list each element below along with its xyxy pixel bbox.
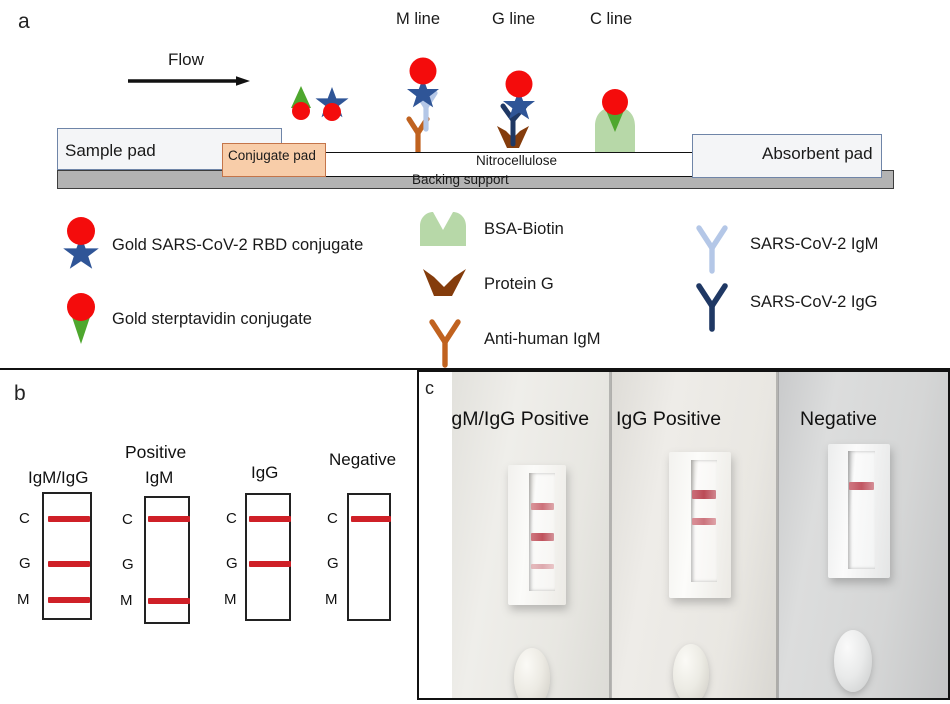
panel-b-letter: b bbox=[14, 382, 26, 406]
flow-arrow-icon bbox=[128, 76, 250, 86]
legend: Gold SARS-CoV-2 RBD conjugate Gold sterp… bbox=[0, 200, 950, 360]
band-m-igm-igg bbox=[48, 597, 90, 603]
band-letter-g-3: G bbox=[226, 555, 238, 572]
conjugate-pad-label: Conjugate pad bbox=[228, 148, 316, 163]
m-line-complex-icon bbox=[398, 53, 454, 153]
strip-igg[interactable] bbox=[245, 493, 291, 621]
strip-igm-igg[interactable] bbox=[42, 492, 92, 620]
panel-c: c IgM/IgG Positive bbox=[417, 370, 950, 700]
dark-blue-y-antibody-icon bbox=[692, 284, 734, 330]
cassette-1-band-m bbox=[531, 564, 554, 569]
panel-a-letter: a bbox=[18, 10, 30, 34]
cassette-1-band-g bbox=[531, 533, 554, 541]
light-green-cup-icon bbox=[418, 212, 468, 246]
legend-label-sars-cov-2-igm: SARS-CoV-2 IgM bbox=[750, 235, 878, 254]
figure-root: a M line G line C line Flow bbox=[0, 0, 950, 704]
c-line-complex-icon bbox=[589, 88, 645, 154]
strip-igm[interactable] bbox=[144, 496, 190, 624]
legend-label-bsa-biotin: BSA-Biotin bbox=[484, 220, 564, 239]
cassette-3-label: Negative bbox=[800, 408, 877, 431]
band-letter-g-2: G bbox=[122, 556, 134, 573]
g-line-label: G line bbox=[492, 10, 535, 29]
band-letter-c-1: C bbox=[19, 510, 30, 527]
legend-label-gold-rbd-conjugate: Gold SARS-CoV-2 RBD conjugate bbox=[112, 236, 363, 255]
cassette-igg-positive[interactable]: IgG Positive bbox=[611, 372, 778, 698]
nitrocellulose-label: Nitrocellulose bbox=[476, 153, 557, 168]
band-letter-m-4: M bbox=[325, 591, 338, 608]
band-letter-m-1: M bbox=[17, 591, 30, 608]
band-letter-m-3: M bbox=[224, 591, 237, 608]
cassette-seam-2 bbox=[776, 372, 779, 698]
cassette-1-band-c bbox=[531, 503, 554, 510]
light-blue-y-antibody-icon bbox=[692, 226, 734, 272]
positive-group-title: Positive bbox=[125, 442, 186, 463]
cassette-2-sample-well bbox=[673, 644, 709, 698]
sample-pad-label: Sample pad bbox=[65, 141, 156, 161]
strip-title-igg: IgG bbox=[251, 463, 278, 483]
band-letter-c-2: C bbox=[122, 511, 133, 528]
red-circle-blue-star-icon bbox=[60, 216, 104, 272]
cassette-1-label: IgM/IgG Positive bbox=[452, 408, 589, 431]
strip-title-igm: IgM bbox=[145, 468, 173, 488]
brown-y-antibody-icon bbox=[424, 320, 468, 366]
panel-a: a M line G line C line Flow bbox=[0, 0, 950, 368]
panel-b: b Positive IgM/IgG C G M IgM C G M IgG C… bbox=[0, 370, 417, 704]
band-letter-g-1: G bbox=[19, 555, 31, 572]
cassette-seam-1 bbox=[609, 372, 612, 698]
cassette-2-band-g bbox=[692, 518, 716, 525]
band-letter-c-3: C bbox=[226, 510, 237, 527]
band-c-igm bbox=[148, 516, 190, 522]
cassette-3-result-window bbox=[848, 451, 875, 569]
cassette-1-result-window bbox=[529, 473, 555, 591]
flow-label: Flow bbox=[168, 50, 204, 70]
absorbent-pad-label: Absorbent pad bbox=[762, 144, 873, 164]
cassette-negative[interactable]: Negative bbox=[778, 372, 950, 698]
strip-title-negative: Negative bbox=[329, 450, 396, 470]
flow-indicator: Flow bbox=[128, 50, 258, 90]
band-letter-g-4: G bbox=[327, 555, 339, 572]
strip-negative[interactable] bbox=[347, 493, 391, 621]
legend-label-gold-streptavidin-conjugate: Gold sterptavidin conjugate bbox=[112, 310, 312, 329]
gold-streptavidin-conjugate-icon bbox=[285, 86, 317, 120]
brown-cup-icon bbox=[422, 268, 470, 300]
band-letter-m-2: M bbox=[120, 592, 133, 609]
legend-label-protein-g: Protein G bbox=[484, 275, 554, 294]
g-line-complex-icon bbox=[489, 68, 545, 154]
cassette-3-band-c bbox=[849, 482, 874, 490]
cassette-igm-igg-positive[interactable]: IgM/IgG Positive bbox=[452, 372, 611, 698]
band-c-igm-igg bbox=[48, 516, 90, 522]
red-circle-green-triangle-icon bbox=[60, 292, 104, 348]
legend-label-anti-human-igm: Anti-human IgM bbox=[484, 330, 600, 349]
cassette-3-sample-well bbox=[834, 630, 872, 692]
m-line-label: M line bbox=[396, 10, 440, 29]
backing-support-label: Backing support bbox=[412, 172, 509, 187]
panel-c-letter: c bbox=[425, 378, 434, 399]
cassette-2-label: IgG Positive bbox=[616, 408, 721, 431]
cassette-photograph: IgM/IgG Positive IgG Positive bbox=[452, 372, 950, 698]
cassette-2-band-c bbox=[692, 490, 716, 499]
band-g-igg bbox=[249, 561, 291, 567]
band-m-igm bbox=[148, 598, 190, 604]
gold-rbd-conjugate-icon bbox=[314, 86, 350, 120]
c-line-label: C line bbox=[590, 10, 632, 29]
band-g-igm-igg bbox=[48, 561, 90, 567]
band-c-negative bbox=[351, 516, 391, 522]
band-c-igg bbox=[249, 516, 291, 522]
strip-title-igm-igg: IgM/IgG bbox=[28, 468, 88, 488]
legend-label-sars-cov-2-igg: SARS-CoV-2 IgG bbox=[750, 293, 877, 312]
band-letter-c-4: C bbox=[327, 510, 338, 527]
